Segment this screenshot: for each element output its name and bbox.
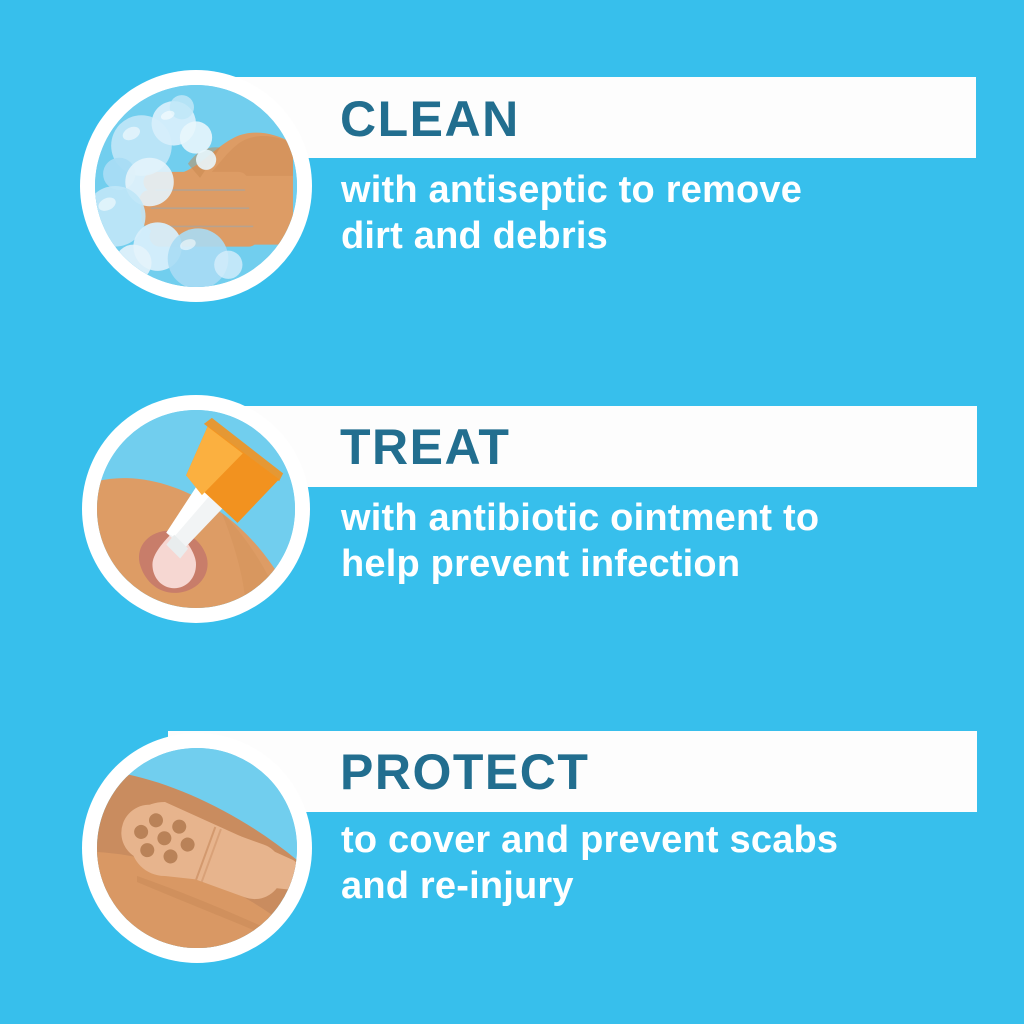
step-title-clean: CLEAN bbox=[340, 94, 520, 144]
step-title-treat: TREAT bbox=[340, 422, 510, 472]
step-description-protect: to cover and prevent scabs and re-injury bbox=[341, 817, 981, 910]
step-clean: CLEAN with antiseptic to remove dirt and… bbox=[0, 60, 1024, 320]
step-treat: TREAT with antibiotic ointment to help p… bbox=[0, 390, 1024, 640]
step-description-clean: with antiseptic to remove dirt and debri… bbox=[341, 167, 981, 260]
ointment-tube-on-wound-icon bbox=[97, 410, 295, 608]
step-protect: PROTECT to cover and prevent scabs and r… bbox=[0, 715, 1024, 965]
adhesive-bandage-on-skin-icon bbox=[97, 748, 297, 948]
washing-hands-with-soap-icon bbox=[95, 85, 297, 287]
wound-care-infographic: CLEAN with antiseptic to remove dirt and… bbox=[0, 0, 1024, 1024]
step-title-protect: PROTECT bbox=[340, 747, 589, 797]
description-line: and re-injury bbox=[341, 863, 981, 909]
icon-circle-clean bbox=[80, 70, 312, 302]
description-line: dirt and debris bbox=[341, 213, 981, 259]
description-line: with antiseptic to remove bbox=[341, 167, 981, 213]
description-line: help prevent infection bbox=[341, 541, 981, 587]
icon-circle-treat bbox=[82, 395, 310, 623]
description-line: with antibiotic ointment to bbox=[341, 495, 981, 541]
step-description-treat: with antibiotic ointment to help prevent… bbox=[341, 495, 981, 588]
description-line: to cover and prevent scabs bbox=[341, 817, 981, 863]
icon-circle-protect bbox=[82, 733, 312, 963]
